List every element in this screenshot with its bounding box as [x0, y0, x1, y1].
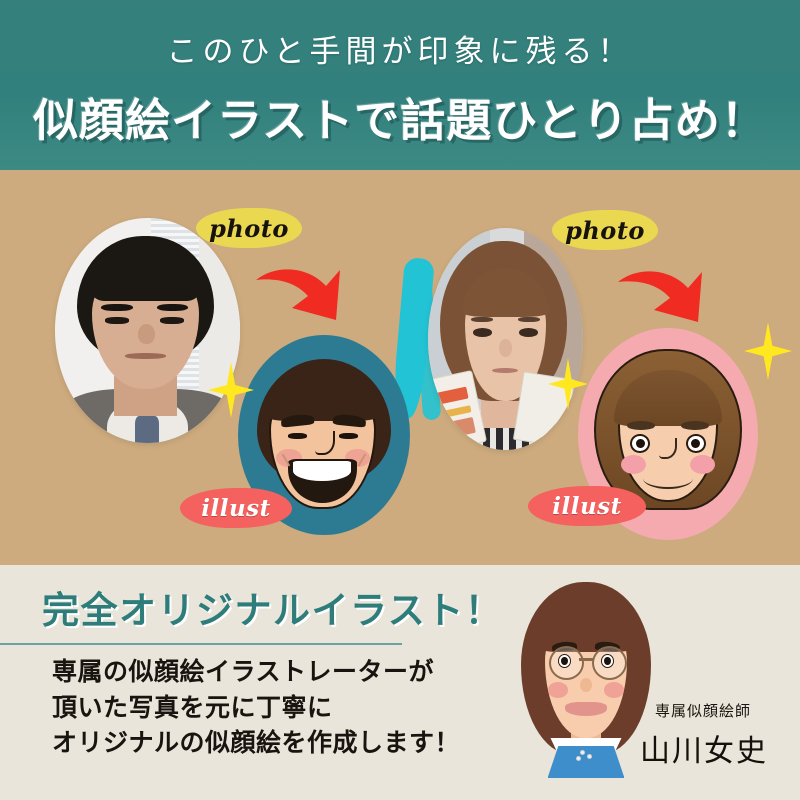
nose	[580, 678, 592, 692]
eye-left	[630, 434, 650, 453]
photo-label-1: photo	[196, 208, 302, 248]
card-band-2	[433, 404, 472, 419]
header-subtitle: このひと手間が印象に残る！	[0, 26, 800, 71]
arrow-icon-1	[250, 260, 340, 332]
arrow-icon-2	[612, 262, 702, 334]
eye-right	[519, 328, 538, 337]
footer-title: 完全オリジナルイラスト！	[42, 580, 503, 634]
customer-photo-1	[55, 218, 240, 443]
glasses-bridge	[579, 658, 594, 661]
artist-name: 山川女史	[628, 726, 780, 770]
lips	[565, 702, 606, 716]
card-band-1	[429, 386, 468, 405]
header-band: このひと手間が印象に残る！ 似顔絵イラストで話題ひとり占め！	[0, 0, 800, 170]
artist-role: 専属似顔絵師	[628, 700, 778, 721]
smiling-mouth	[643, 468, 693, 489]
eye-left	[105, 317, 129, 324]
illust-label-2: illust	[528, 486, 646, 526]
footer-divider	[0, 643, 402, 645]
blue-top	[548, 746, 625, 778]
illust-label-1: illust	[180, 488, 292, 528]
pupil-right	[691, 439, 700, 448]
eyebrow-right	[157, 304, 188, 312]
illust-label-text: illust	[528, 486, 646, 526]
photo-label-2: photo	[552, 210, 658, 250]
eye-right	[686, 434, 706, 453]
pearl-3	[576, 756, 581, 761]
description-line: 頂いた写真を元に丁寧に	[52, 690, 522, 726]
eye-left	[288, 433, 307, 439]
illust-label-text: illust	[180, 488, 292, 528]
eye-right	[339, 433, 358, 439]
header-title: 似顔絵イラストで話題ひとり占め！	[0, 84, 800, 149]
pupil-left	[561, 657, 568, 665]
teeth	[293, 461, 351, 481]
eye-right	[160, 317, 184, 324]
promo-banner: このひと手間が印象に残る！ 似顔絵イラストで話題ひとり占め！	[0, 0, 800, 800]
eye-right	[601, 654, 614, 668]
eyebrow-right	[518, 317, 540, 323]
necktie	[135, 416, 159, 443]
description-line: オリジナルの似顔絵を作成します！	[52, 725, 522, 761]
eye-left	[473, 328, 492, 337]
nose	[499, 339, 511, 357]
eyebrow-left	[101, 304, 132, 312]
cheek-left	[548, 682, 569, 698]
card-band-3	[436, 417, 476, 440]
pupil-left	[636, 439, 645, 448]
nose	[138, 324, 155, 344]
showcase-band: photo i	[0, 170, 800, 565]
mouth	[125, 353, 166, 359]
cheek-right	[690, 455, 715, 474]
eye-left	[558, 654, 571, 668]
pupil-right	[604, 657, 611, 665]
footer-description: 専属の似顔絵イラストレーターが 頂いた写真を元に丁寧に オリジナルの似顔絵を作成…	[52, 654, 522, 761]
photo-label-text: photo	[552, 210, 658, 250]
photo-label-text: photo	[196, 208, 302, 248]
eyebrow-right	[681, 421, 710, 429]
customer-photo-2	[428, 228, 583, 450]
eyebrow-left	[627, 421, 656, 429]
description-line: 専属の似顔絵イラストレーターが	[52, 654, 522, 690]
